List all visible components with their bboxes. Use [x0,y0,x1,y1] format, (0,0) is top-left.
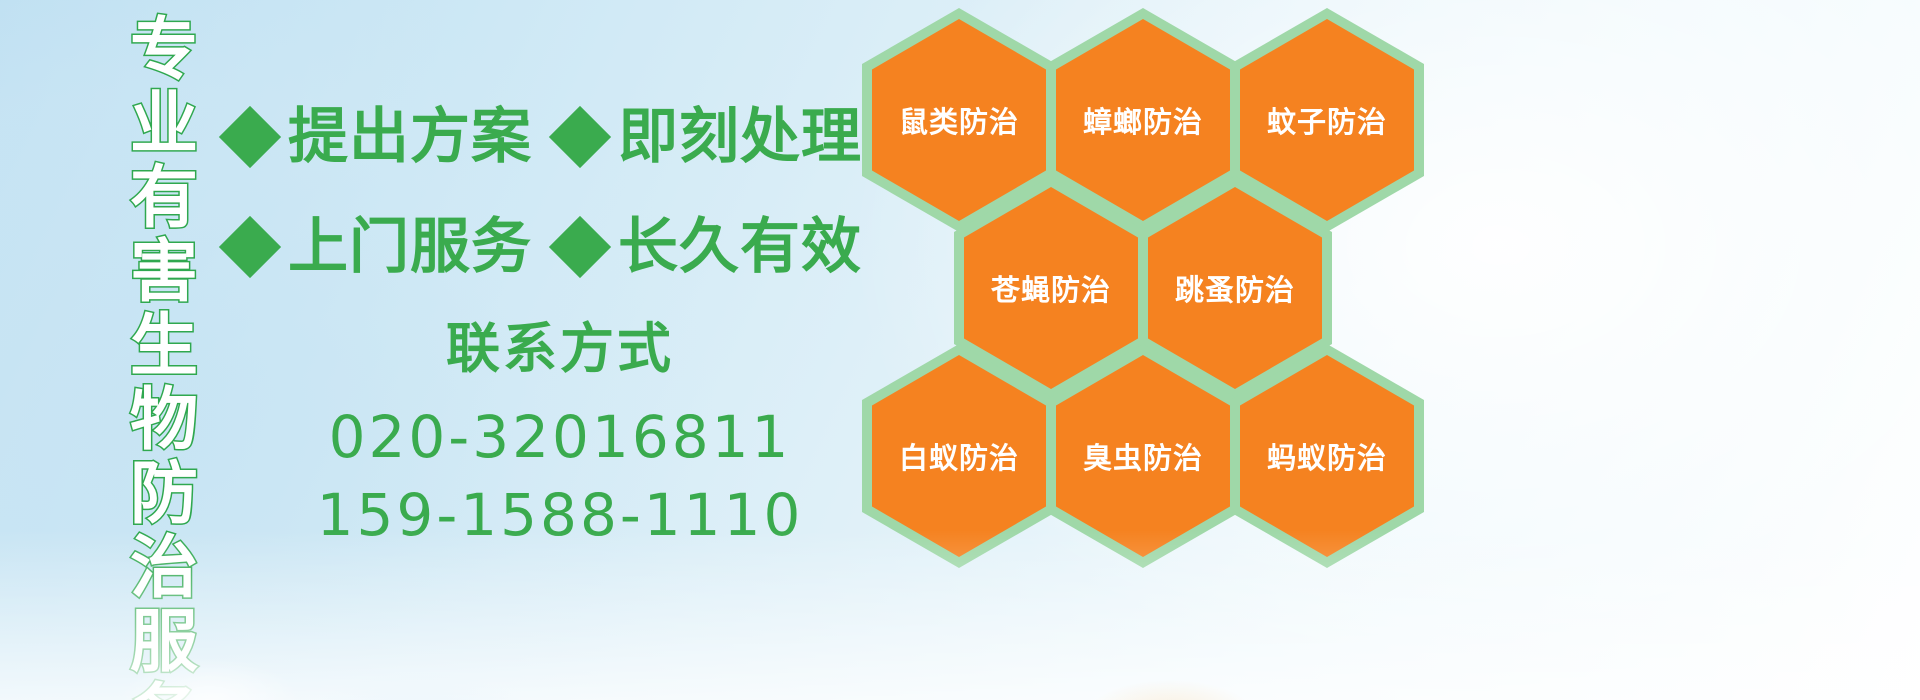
contact-phone-landline[interactable]: 020-32016811 [300,398,820,476]
feature-row: 上门服务 长久有效 [228,192,888,302]
service-hex-label: 鼠类防治 [899,99,1019,141]
feature-item: 即刻处理 [558,105,862,169]
pest-control-banner: 专 业 有 害 生 物 防 治 服 务 提出方案 即刻处理 上门服务 [0,0,1920,700]
vertical-headline-char: 服 [130,606,198,680]
feature-item: 上门服务 [228,215,532,279]
feature-label: 提出方案 [288,105,532,169]
service-hex-label: 苍蝇防治 [991,267,1111,309]
contact-title: 联系方式 [300,318,820,380]
vertical-headline-char: 物 [130,384,198,458]
service-honeycomb: 鼠类防治 蟑螂防治 蚊子防治 苍蝇防治 跳蚤防治 白蚁防治 臭虫防治 蚂蚁 [862,0,1482,560]
feature-list: 提出方案 即刻处理 上门服务 长久有效 [228,82,888,302]
feature-item: 提出方案 [228,105,532,169]
diamond-bullet-icon [549,216,611,278]
diamond-bullet-icon [219,106,281,168]
diamond-bullet-icon [549,106,611,168]
feature-label: 长久有效 [618,215,862,279]
service-hex-label: 跳蚤防治 [1175,267,1295,309]
service-hex-label: 蚊子防治 [1267,99,1387,141]
service-hex-label: 臭虫防治 [1083,435,1203,477]
vertical-headline-char: 害 [130,236,198,310]
feature-label: 即刻处理 [618,105,862,169]
vertical-headline-char: 有 [130,162,198,236]
vertical-headline: 专 业 有 害 生 物 防 治 服 务 [112,14,216,700]
service-hex-label: 蟑螂防治 [1083,99,1203,141]
diamond-bullet-icon [219,216,281,278]
contact-phone-mobile[interactable]: 159-1588-1110 [300,476,820,554]
vertical-headline-char: 防 [130,458,198,532]
feature-label: 上门服务 [288,215,532,279]
vertical-headline-char: 治 [130,532,198,606]
feature-item: 长久有效 [558,215,862,279]
vertical-headline-char: 生 [130,310,198,384]
vertical-headline-char: 务 [130,680,198,700]
contact-block: 联系方式 020-32016811 159-1588-1110 [300,318,820,554]
service-hex-label: 白蚁防治 [899,435,1019,477]
vertical-headline-char: 专 [130,14,198,88]
service-hex-label: 蚂蚁防治 [1267,435,1387,477]
feature-row: 提出方案 即刻处理 [228,82,888,192]
vertical-headline-char: 业 [130,88,198,162]
